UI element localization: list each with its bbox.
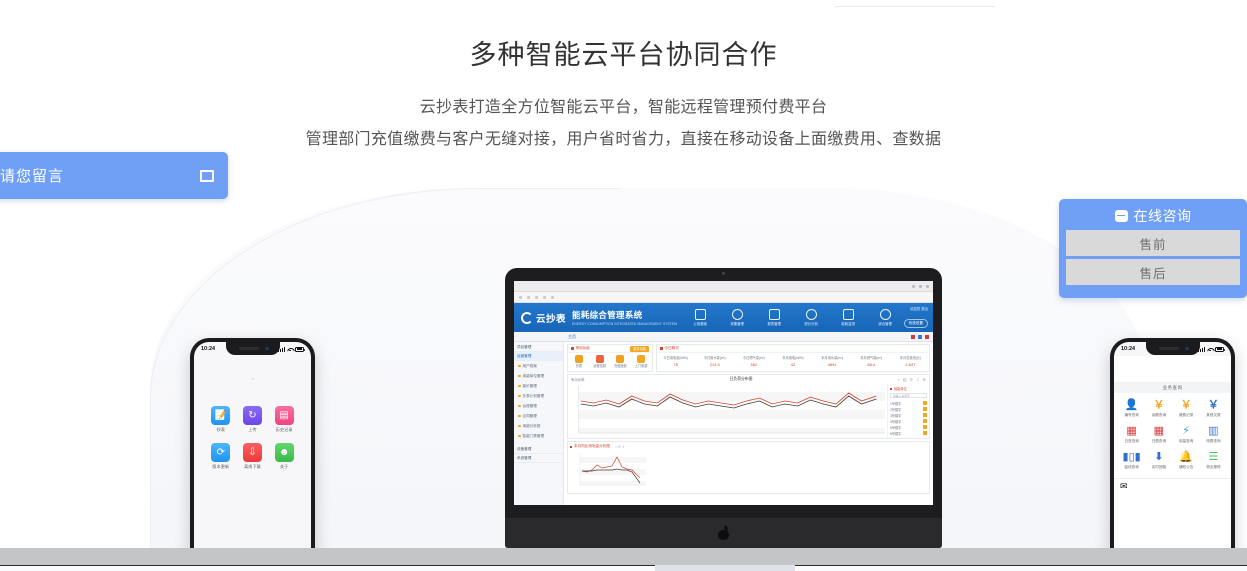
line-chart-icon[interactable]: ⌁	[897, 377, 899, 382]
query-item-10[interactable]: 🔔 通知公告	[1173, 451, 1200, 470]
unit-search-input[interactable]: 请输入关键字	[890, 393, 927, 398]
download-icon[interactable]: ⇩	[916, 377, 919, 382]
query-label-1: 余额查询	[1145, 413, 1172, 418]
monitor-body: 云抄表 能耗综合管理系统 ENERGY CONSUMPTION INTEGRAT…	[505, 268, 942, 548]
reload-icon[interactable]	[535, 296, 538, 299]
app-body: 项目管理 运营管理 用户档案 用能单位管理 量价管理	[514, 342, 933, 505]
cloud-download-icon: ⇩	[243, 443, 262, 462]
quick-label-1: 远程控制	[593, 364, 607, 368]
cart-icon	[637, 355, 645, 363]
online-consult-title: 在线咨询	[1134, 206, 1192, 226]
section-title: 业务查询	[1114, 382, 1231, 393]
app-logo-text: 云抄表	[536, 311, 566, 325]
sidebar-item-access[interactable]: 智能门禁管理	[514, 431, 563, 441]
globe-icon	[732, 309, 743, 320]
main-chart-card: 有功功率 日负荷分布图 ⌁ ▥ ⟳ ⇩ ⚙	[567, 374, 930, 439]
refresh-icon[interactable]: ⟳	[910, 377, 913, 382]
sidebar-label-5: 抄表计划管理	[523, 394, 545, 399]
yen-icon: ￥	[1145, 399, 1172, 411]
yen-icon: ￥	[1173, 399, 1200, 411]
sidebar-label-7: 合同管理	[523, 414, 537, 419]
status-time: 10:24	[1121, 346, 1135, 352]
bullet-icon	[890, 388, 892, 390]
payment-icon	[616, 355, 624, 363]
desktop-monitor: 云抄表 能耗综合管理系统 ENERGY CONSUMPTION INTEGRAT…	[505, 268, 942, 548]
browser-titlebar	[514, 281, 933, 292]
calendar-icon: ▦	[1145, 425, 1172, 437]
building-icon	[695, 309, 706, 320]
main-chart-title: 日负荷分布图	[730, 377, 753, 382]
app-item-version-update[interactable]: ⟳ 版本更新	[205, 443, 237, 470]
unit-item-5[interactable]: 6号楼宇	[890, 430, 927, 436]
sidebar-label-9: 智能门禁管理	[523, 434, 545, 439]
sidebar-label-6: 台账管理	[523, 404, 537, 409]
app-tabstrip: 主页	[514, 332, 933, 342]
calendar-icon: ▦	[1118, 425, 1145, 437]
bullet-icon	[518, 405, 521, 408]
left-phone-body: 📝 抄表 ↻ 上传 ▤ 历史记录 ⟳ 版本更新 ⇩ 离线下载	[194, 356, 311, 564]
metric-label-0: 今日用电量(kWh)	[657, 355, 694, 360]
quick-item-remote[interactable]: 远程控制	[593, 355, 607, 368]
app-sidebar: 项目管理 运营管理 用户档案 用能单位管理 量价管理	[514, 342, 564, 505]
online-consult-widget[interactable]: 在线咨询 售前 售后	[1059, 199, 1247, 298]
app-subtitle: ENERGY CONSUMPTION INTEGRATED MANAGEMENT…	[572, 322, 677, 326]
query-item-5[interactable]: ▦ 日费查询	[1145, 425, 1172, 444]
left-phone: 10:24 📝 抄表 ↻ 上传 ▤	[190, 338, 315, 568]
hero-subtitle-line-2: 管理部门充值缴费与客户无缝对接，用户省时省力，直接在移动设备上面缴费用、查数据	[0, 126, 1247, 154]
right-phone-body: 业务查询 👤 编号查询 ￥ 余额查询 ￥ 缴费记录 ￥ 其他欠费	[1114, 356, 1231, 564]
mini-chart-svg	[570, 451, 648, 491]
forward-icon[interactable]	[527, 296, 530, 299]
status-chip-icon	[923, 425, 927, 429]
status-chip-icon	[923, 401, 927, 405]
status-chip-icon	[923, 431, 927, 435]
upload-sync-icon: ↻	[243, 406, 262, 425]
metric-value-2: 562	[735, 362, 772, 367]
left-phone-screen: 10:24 📝 抄表 ↻ 上传 ▤	[194, 342, 311, 564]
status-chip-icon	[923, 419, 927, 423]
stats-header: 今日概况	[657, 345, 929, 353]
desk-highlight	[655, 565, 795, 571]
metric-3: 本月用电(kWh) 42	[774, 353, 811, 370]
version-update-icon: ⟳	[211, 443, 230, 462]
metric-label-4: 本月用水量(m³)	[814, 355, 851, 360]
bar-chart-icon: ▮▯▮	[1118, 451, 1145, 463]
main-chart-legend: 有功功率	[571, 377, 585, 382]
quick-item-recharge[interactable]: 充值缴费	[614, 355, 628, 368]
chat-bubble-icon	[1115, 210, 1128, 222]
app-item-meter-read[interactable]: 📝 抄表	[205, 406, 237, 433]
app-title: 能耗综合管理系统	[572, 309, 677, 321]
metric-label-1: 今日用水量(m³)	[696, 355, 733, 360]
metric-1: 今日用水量(m³) 214.5	[696, 353, 733, 370]
system-settings-button[interactable]: 系统设置	[904, 319, 928, 328]
metric-0: 今日用电量(kWh) 78	[657, 353, 694, 370]
status-chip-icon	[923, 407, 927, 411]
metric-value-3: 42	[774, 362, 811, 367]
app-item-history[interactable]: ▤ 历史记录	[268, 406, 300, 433]
bullet-icon	[518, 395, 521, 398]
monitor-icon	[843, 309, 854, 320]
wifi-icon	[287, 347, 293, 352]
sidebar-item-analysis[interactable]: 用能分析报	[514, 421, 563, 431]
query-item-7[interactable]: ▥ 用费查询	[1200, 425, 1227, 444]
query-label-10: 通知公告	[1173, 465, 1200, 470]
query-item-8[interactable]: ▮▯▮ 曲线查询	[1118, 451, 1145, 470]
hero-section: 多种智能云平台协同合作 云抄表打造全方位智能云平台，智能远程管理预付费平台 管理…	[0, 0, 1247, 154]
app-header: 云抄表 能耗综合管理系统 ENERGY CONSUMPTION INTEGRAT…	[514, 303, 933, 332]
bullet-icon	[518, 435, 521, 438]
menu-icon[interactable]	[551, 296, 554, 299]
right-phone-footer: ✉	[1114, 478, 1231, 493]
query-label-5: 日费查询	[1145, 439, 1172, 444]
list-icon: ☰	[1200, 451, 1227, 463]
more-functions-button[interactable]: 更多功能	[630, 346, 649, 352]
home-icon[interactable]	[543, 296, 546, 299]
sidebar-group-operations[interactable]: 运营管理	[514, 352, 563, 361]
app-nav-item-3[interactable]: 统计分析	[798, 309, 824, 326]
app-content: 常用功能 更多功能 抄表 远程控制	[564, 342, 933, 505]
query-item-11[interactable]: ☰ 物业报修	[1200, 451, 1227, 470]
quick-label-2: 充值缴费	[614, 364, 628, 368]
browser-navbar	[514, 292, 933, 303]
app-nav: 公用基础 采集管理 报表管理 统计分析	[687, 309, 898, 326]
right-phone: 10:24 业务查询 👤 编号查询 ￥ 余额查询	[1110, 338, 1235, 568]
bullet-icon	[660, 347, 663, 350]
unit-label-5: 6号楼宇	[890, 431, 901, 436]
app-nav-label-2: 报表管理	[761, 321, 787, 326]
stats-metrics: 今日用电量(kWh) 78 今日用水量(m³) 214.5 今日燃气量(m³) …	[657, 353, 929, 370]
sidebar-item-read-plan[interactable]: 抄表计划管理	[514, 391, 563, 401]
user-icon: 👤	[1118, 399, 1145, 411]
about-icon: ☻	[275, 443, 294, 462]
clock-icon	[806, 309, 817, 320]
tab-home[interactable]: 主页	[568, 334, 576, 340]
query-label-9: 实时回路	[1145, 465, 1172, 470]
app-nav-item-2[interactable]: 报表管理	[761, 309, 787, 326]
report-icon	[769, 309, 780, 320]
query-item-2[interactable]: ￥ 缴费记录	[1173, 399, 1200, 418]
leave-message-widget[interactable]: 请您留言	[0, 152, 228, 199]
apple-logo-icon	[718, 527, 729, 540]
left-phone-app-grid: 📝 抄表 ↻ 上传 ▤ 历史记录 ⟳ 版本更新 ⇩ 离线下载	[205, 406, 300, 470]
meter-icon	[575, 355, 583, 363]
quick-functions-card: 常用功能 更多功能 抄表 远程控制	[567, 344, 653, 372]
quick-label-3: 上门收费	[634, 364, 648, 368]
speaker-icon	[1159, 347, 1179, 350]
app-nav-label-1: 采集管理	[724, 321, 750, 326]
hero-subtitle-line-1: 云抄表打造全方位智能云平台，智能远程管理预付费平台	[0, 94, 1247, 122]
chart-unit-panel: 用能单位 请输入关键字 1号楼宇 2号楼宇 3号楼宇 4号楼宇 5号楼宇 6号楼…	[887, 384, 929, 438]
sidebar-group-device[interactable]: 设备管理	[514, 445, 563, 454]
app-label-0: 抄表	[205, 427, 237, 433]
query-label-0: 编号查询	[1118, 413, 1145, 418]
app-nav-label-3: 统计分析	[798, 321, 824, 326]
status-icons	[278, 347, 304, 352]
status-icons	[1198, 347, 1224, 352]
business-query-grid: 👤 编号查询 ￥ 余额查询 ￥ 缴费记录 ￥ 其他欠费 ▦ 日查查询	[1114, 393, 1231, 470]
metric-6: 本月总费用(元) 2,647	[892, 353, 929, 370]
tab-close-icon[interactable]	[911, 335, 915, 339]
quick-item-doorfee[interactable]: 上门收费	[634, 355, 648, 368]
query-label-3: 其他欠费	[1200, 413, 1227, 418]
yen-icon: ￥	[1200, 399, 1227, 411]
query-item-0[interactable]: 👤 编号查询	[1118, 399, 1145, 418]
metric-label-2: 今日燃气量(m³)	[735, 355, 772, 360]
leave-message-label: 请您留言	[0, 165, 64, 186]
quick-functions-list: 抄表 远程控制 充值缴费	[568, 353, 652, 371]
app-label-4: 离线下载	[237, 464, 269, 470]
app-nav-item-0[interactable]: 公用基础	[687, 309, 713, 326]
right-phone-screen: 10:24 业务查询 👤 编号查询 ￥ 余额查询	[1114, 342, 1231, 564]
sidebar-item-user-archive[interactable]: 用户档案	[514, 361, 563, 371]
sidebar-label-4: 量价管理	[523, 384, 537, 389]
metric-label-3: 本月用电(kWh)	[774, 355, 811, 360]
bullet-icon	[518, 415, 521, 418]
metric-2: 今日燃气量(m³) 562	[735, 353, 772, 370]
app-label-1: 上传	[237, 427, 269, 433]
bar-chart-icon[interactable]: ▥	[903, 377, 907, 382]
maximize-icon[interactable]	[919, 285, 922, 288]
unit-label-2: 3号楼宇	[890, 413, 901, 418]
sidebar-item-ledger[interactable]: 台账管理	[514, 401, 563, 411]
stats-title: 今日概况	[665, 346, 679, 351]
unit-label-0: 1号楼宇	[890, 401, 901, 406]
cloud-meter-logo-icon	[521, 312, 533, 324]
meter-read-icon: 📝	[211, 406, 230, 425]
settings-icon[interactable]: ⚙	[922, 377, 926, 382]
battery-icon	[295, 347, 304, 352]
app-nav-label-0: 公用基础	[687, 321, 713, 326]
square-icon[interactable]	[200, 170, 214, 182]
mini-chart-header: 本月同比用电量分析图 ⌁ ⟳ ⇩	[570, 444, 927, 449]
query-item-9[interactable]: ⬇ 实时回路	[1145, 451, 1172, 470]
quick-functions-header: 常用功能 更多功能	[568, 345, 652, 353]
sidebar-item-contract[interactable]: 合同管理	[514, 411, 563, 421]
app-label-2: 历史记录	[268, 427, 300, 433]
main-chart-svg	[568, 384, 887, 438]
metric-label-6: 本月总费用(元)	[892, 355, 929, 360]
app-item-about[interactable]: ☻ 关于	[268, 443, 300, 470]
metric-value-0: 78	[657, 362, 694, 367]
status-chip-icon	[923, 413, 927, 417]
metric-value-4: 4891	[814, 362, 851, 367]
app-label-3: 版本更新	[205, 464, 237, 470]
unit-label-4: 5号楼宇	[890, 425, 901, 430]
status-time: 10:24	[201, 346, 215, 352]
app-title-block: 能耗综合管理系统 ENERGY CONSUMPTION INTEGRATED M…	[572, 309, 677, 326]
bell-icon: 🔔	[1173, 451, 1200, 463]
bullet-icon	[518, 375, 521, 378]
back-icon[interactable]	[519, 296, 522, 299]
sidebar-item-energy-unit[interactable]: 用能单位管理	[514, 371, 563, 381]
unit-label-1: 2号楼宇	[890, 407, 901, 412]
stats-card: 今日概况 今日用电量(kWh) 78 今日用水量(m³) 214.5	[656, 344, 930, 372]
desk-edge	[0, 565, 1247, 571]
monitor-chin	[505, 518, 942, 548]
query-item-3[interactable]: ￥ 其他欠费	[1200, 399, 1227, 418]
close-icon[interactable]	[926, 285, 929, 288]
user-icon	[880, 309, 891, 320]
sidebar-group-system[interactable]: 系统管理	[514, 454, 563, 463]
quick-item-meter[interactable]: 抄表	[572, 355, 586, 368]
query-label-7: 用费查询	[1200, 439, 1227, 444]
tabstrip-actions	[911, 335, 933, 339]
app-item-offline-download[interactable]: ⇩ 离线下载	[237, 443, 269, 470]
unit-panel-label: 用能单位	[894, 386, 907, 391]
mini-chart-tools[interactable]: ⌁ ⟳ ⇩	[615, 445, 625, 449]
app-nav-label-5: 综合管理	[872, 321, 898, 326]
page-indicator-dot	[252, 378, 254, 380]
metric-value-5: 88.4	[853, 362, 890, 367]
main-chart-header: 有功功率 日负荷分布图 ⌁ ▥ ⟳ ⇩ ⚙	[568, 375, 929, 384]
webcam-icon	[722, 272, 725, 275]
speaker-icon	[239, 347, 259, 350]
minimize-icon[interactable]	[912, 285, 915, 288]
metric-label-5: 本月燃气量(m³)	[853, 355, 890, 360]
chart-unit-panel-title: 用能单位	[890, 386, 927, 391]
app-nav-label-4: 能耗监测	[835, 321, 861, 326]
query-label-2: 缴费记录	[1173, 413, 1200, 418]
quick-functions-title: 常用功能	[576, 346, 590, 351]
front-camera-icon	[265, 347, 269, 351]
presale-button[interactable]: 售前	[1066, 230, 1240, 256]
mini-chart-card: 本月同比用电量分析图 ⌁ ⟳ ⇩	[567, 441, 930, 494]
sidebar-label-3: 用能单位管理	[523, 374, 545, 379]
metric-4: 本月用水量(m³) 4891	[814, 353, 851, 370]
mini-chart-title: 本月同比用电量分析图	[574, 444, 610, 449]
sidebar-label-8: 用能分析报	[523, 424, 541, 429]
app-header-status: 欢迎您 退出	[904, 306, 928, 311]
online-consult-header: 在线咨询	[1066, 205, 1240, 227]
app-nav-item-4[interactable]: 能耗监测	[835, 309, 861, 326]
history-icon: ▤	[275, 406, 294, 425]
metric-5: 本月燃气量(m³) 88.4	[853, 353, 890, 370]
download-arrow-icon: ⬇	[1145, 451, 1172, 463]
query-label-6: 用量查询	[1173, 439, 1200, 444]
notch	[1146, 342, 1200, 355]
bullet-icon	[570, 446, 572, 448]
app-nav-item-1[interactable]: 采集管理	[724, 309, 750, 326]
card-icon: ▥	[1200, 425, 1227, 437]
bullet-icon	[518, 365, 521, 368]
main-chart-area: 用能单位 请输入关键字 1号楼宇 2号楼宇 3号楼宇 4号楼宇 5号楼宇 6号楼…	[568, 384, 929, 438]
main-chart-plot	[568, 384, 887, 438]
monitor-screen: 云抄表 能耗综合管理系统 ENERGY CONSUMPTION INTEGRAT…	[514, 281, 933, 505]
metric-value-6: 2,647	[892, 362, 929, 367]
tab-refresh-icon[interactable]	[918, 335, 922, 339]
bullet-icon	[518, 425, 521, 428]
query-label-4: 日查查询	[1118, 439, 1145, 444]
query-item-6[interactable]: ⚡ 用量查询	[1173, 425, 1200, 444]
main-chart-tools: ⌁ ▥ ⟳ ⇩ ⚙	[897, 377, 926, 382]
query-label-11: 物业报修	[1200, 465, 1227, 470]
metric-value-1: 214.5	[696, 362, 733, 367]
app-logo[interactable]: 云抄表	[521, 311, 566, 325]
front-camera-icon	[1185, 347, 1189, 351]
battery-icon	[1215, 347, 1224, 352]
search-icon	[596, 355, 604, 363]
sidebar-group-project[interactable]: 项目管理	[514, 343, 563, 352]
aftersale-button[interactable]: 售后	[1066, 259, 1240, 285]
query-item-1[interactable]: ￥ 余额查询	[1145, 399, 1172, 418]
bolt-icon: ⚡	[1173, 425, 1200, 437]
bullet-icon	[571, 347, 574, 350]
tab-more-icon[interactable]	[925, 335, 929, 339]
sidebar-item-price[interactable]: 量价管理	[514, 381, 563, 391]
page-title: 多种智能云平台协同合作	[0, 38, 1247, 72]
unit-label-3: 4号楼宇	[890, 419, 901, 424]
sidebar-label-2: 用户档案	[523, 364, 537, 369]
query-item-4[interactable]: ▦ 日查查询	[1118, 425, 1145, 444]
notch	[226, 342, 280, 355]
app-item-upload[interactable]: ↻ 上传	[237, 406, 269, 433]
query-label-8: 曲线查询	[1118, 465, 1145, 470]
wifi-icon	[1207, 347, 1213, 352]
app-nav-item-5[interactable]: 综合管理	[872, 309, 898, 326]
desk-surface	[0, 548, 1247, 565]
bullet-icon	[518, 385, 521, 388]
quick-label-0: 抄表	[572, 364, 586, 368]
app-label-5: 关于	[268, 464, 300, 470]
app-header-right: 欢迎您 退出 系统设置	[904, 306, 933, 329]
mail-icon[interactable]: ✉	[1120, 481, 1128, 492]
